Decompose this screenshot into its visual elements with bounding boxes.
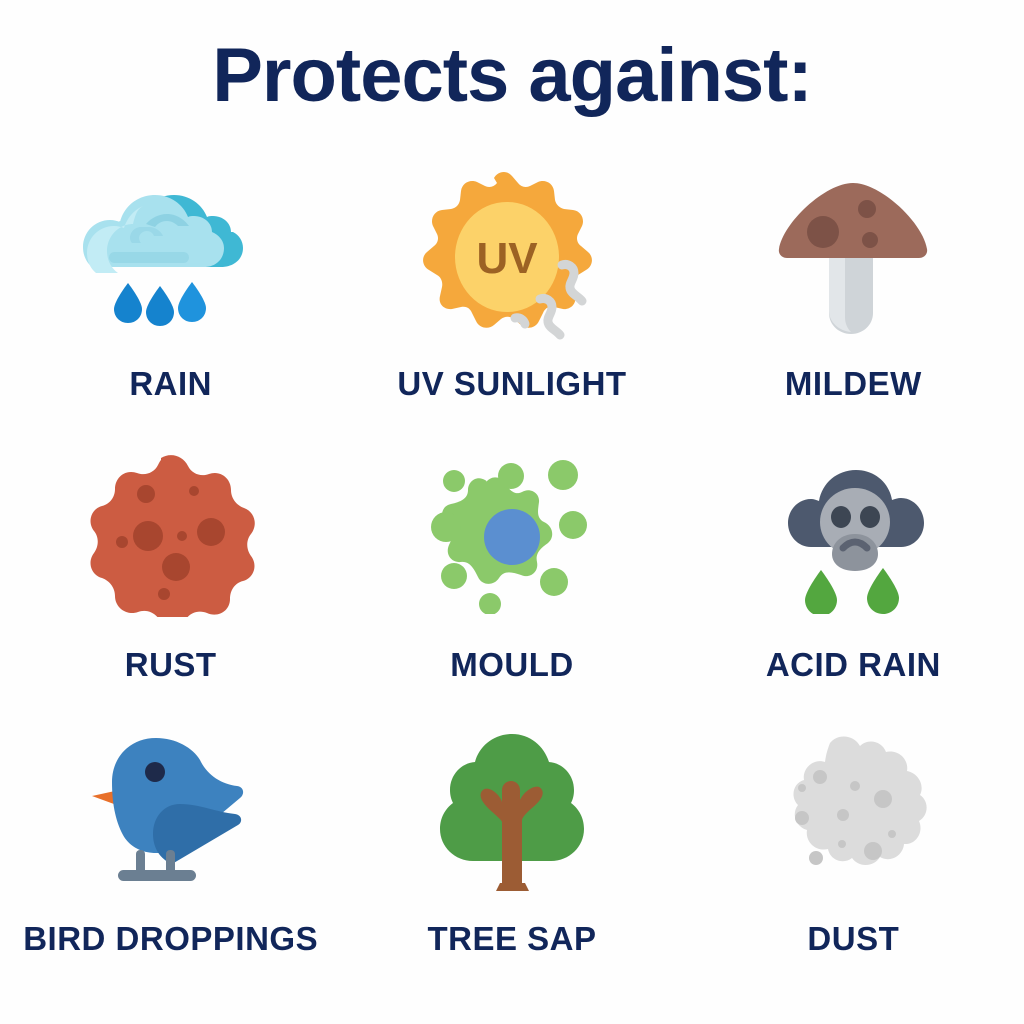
mould-amoeba-icon	[412, 437, 612, 632]
grid-item-label: TREE SAP	[427, 920, 596, 958]
uv-badge-text: UV	[477, 234, 539, 283]
bird-icon	[71, 713, 271, 908]
grid-item-rain: RAIN	[0, 160, 341, 437]
grid-item-label: ACID RAIN	[766, 646, 941, 684]
grid-item-label: MILDEW	[785, 365, 922, 403]
acid-rain-skull-icon	[753, 437, 953, 632]
grid-item-label: DUST	[807, 920, 899, 958]
mushroom-icon	[753, 160, 953, 355]
tree-icon	[412, 713, 612, 908]
grid-item-mould: MOULD	[341, 437, 682, 714]
grid-item-uv-sunlight: UV UV SUNLIGHT	[341, 160, 682, 437]
grid-item-tree-sap: TREE SAP	[341, 713, 682, 990]
infographic-page: Protects against: RAIN	[0, 0, 1024, 1024]
grid-item-label: RAIN	[129, 365, 212, 403]
grid-item-label: RUST	[125, 646, 217, 684]
page-title: Protects against:	[0, 34, 1024, 118]
rain-cloud-icon	[71, 160, 271, 355]
protection-grid: RAIN UV UV SUNLIGHT	[0, 160, 1024, 990]
grid-item-bird-droppings: BIRD DROPPINGS	[0, 713, 341, 990]
grid-item-mildew: MILDEW	[683, 160, 1024, 437]
dust-cloud-icon	[753, 713, 953, 908]
rust-blob-icon	[71, 437, 271, 632]
grid-item-label: BIRD DROPPINGS	[23, 920, 318, 958]
grid-item-label: UV SUNLIGHT	[397, 365, 626, 403]
grid-item-acid-rain: ACID RAIN	[683, 437, 1024, 714]
grid-item-rust: RUST	[0, 437, 341, 714]
grid-item-label: MOULD	[450, 646, 573, 684]
grid-item-dust: DUST	[683, 713, 1024, 990]
uv-sun-icon: UV	[412, 160, 612, 355]
